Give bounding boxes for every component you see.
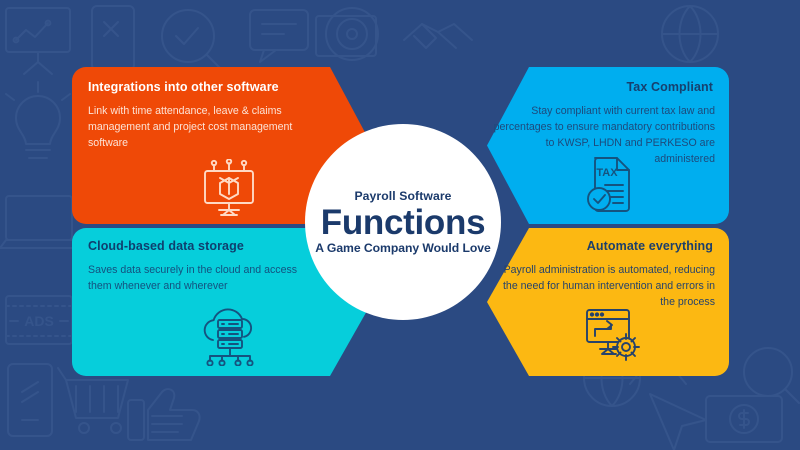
monitor-cube-integration-icon bbox=[198, 159, 260, 217]
center-hub-circle: Payroll Software Functions A Game Compan… bbox=[305, 124, 501, 320]
infographic-canvas: ADS bbox=[0, 0, 800, 450]
card-tax-title: Tax Compliant bbox=[627, 80, 714, 95]
monitor-gear-automation-icon bbox=[583, 306, 645, 364]
card-automate[interactable]: Automate everything Payroll administrati… bbox=[487, 228, 729, 376]
laptop-icon bbox=[0, 196, 80, 248]
magnifier-badge-icon bbox=[744, 348, 799, 403]
ads-browser-icon: ADS bbox=[6, 296, 72, 344]
smartphone-icon bbox=[92, 6, 134, 70]
card-automate-body: Payroll administration is automated, red… bbox=[497, 262, 715, 310]
handshake-icon bbox=[404, 24, 472, 48]
page-title: Functions bbox=[321, 205, 486, 241]
card-tax[interactable]: Tax Compliant Stay compliant with curren… bbox=[487, 67, 729, 224]
globe-icon bbox=[662, 6, 718, 62]
thumbs-up-icon bbox=[128, 389, 200, 440]
card-integrations-title: Integrations into other software bbox=[88, 80, 279, 95]
presentation-chart-icon bbox=[6, 8, 70, 74]
tax-document-check-icon: TAX bbox=[579, 155, 639, 215]
smartphone-icon bbox=[8, 364, 52, 436]
lightbulb-icon bbox=[6, 82, 70, 158]
dollar-banknote-icon bbox=[706, 396, 782, 442]
card-cloud-body: Saves data securely in the cloud and acc… bbox=[88, 262, 313, 294]
center-kicker: Payroll Software bbox=[354, 189, 451, 203]
card-automate-title: Automate everything bbox=[587, 239, 713, 254]
cloud-server-network-icon bbox=[196, 308, 262, 366]
magnifier-badge-icon bbox=[162, 10, 223, 71]
speech-bubble-icon bbox=[250, 10, 308, 62]
svg-text:TAX: TAX bbox=[596, 167, 618, 179]
center-subtitle: A Game Company Would Love bbox=[315, 241, 491, 255]
svg-text:ADS: ADS bbox=[24, 313, 54, 329]
shopping-cart-icon bbox=[58, 368, 128, 433]
card-integrations-body: Link with time attendance, leave & claim… bbox=[88, 103, 303, 151]
card-cloud-title: Cloud-based data storage bbox=[88, 239, 244, 254]
